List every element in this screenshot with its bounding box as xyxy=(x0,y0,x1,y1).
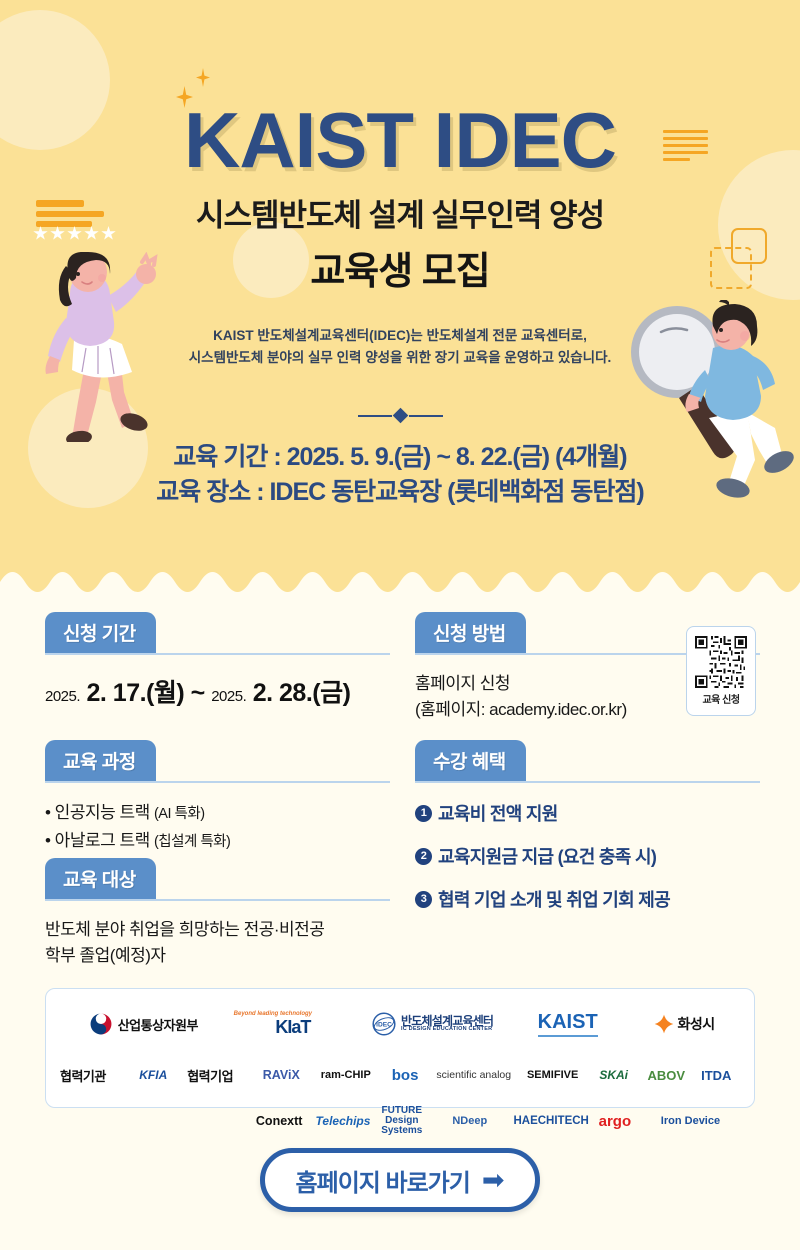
logo-abov: ABOV xyxy=(640,1068,693,1083)
tab-benefits-wrap: 수강 혜택 xyxy=(415,740,760,781)
courses-list: • 인공지능 트랙 (AI 특화) • 아날로그 트랙 (칩설계 특화) xyxy=(45,799,390,854)
logo-future-design-systems: FUTURE Design Systems xyxy=(377,1106,426,1136)
hero-period: 교육 기간 : 2025. 5. 9.(금) ~ 8. 22.(금) (4개월) xyxy=(0,437,800,473)
logo-argo: argo xyxy=(589,1113,641,1130)
benefit-0-number: 1 xyxy=(415,805,432,822)
logo-idec: IDEC 반도체설계교육센터 IC DESIGN EDUCATION CENTE… xyxy=(358,1012,507,1036)
tab-apply-period-wrap: 신청 기간 xyxy=(45,612,390,653)
logo-haechitech: HAECHITECH xyxy=(513,1115,588,1127)
apply-period-tilde: ~ xyxy=(191,679,205,707)
hero-headline: 교육생 모집 xyxy=(0,240,800,295)
logo-ramxchip: ram-CHIP xyxy=(311,1069,381,1081)
qr-code-icon xyxy=(695,636,747,688)
benefit-0-text: 교육비 전액 지원 xyxy=(438,800,558,826)
hero-place: 교육 장소 : IDEC 동탄교육장 (롯데백화점 동탄점) xyxy=(0,472,800,508)
benefit-2-text: 협력 기업 소개 및 취업 기회 제공 xyxy=(438,886,670,912)
svg-text:IDEC: IDEC xyxy=(376,1021,392,1028)
rule-target xyxy=(45,899,390,901)
apply-period-year-to: 2025. xyxy=(211,688,246,705)
cta-label: 홈페이지 바로가기 xyxy=(296,1163,470,1198)
target-text: 반도체 분야 취업을 희망하는 전공·비전공 학부 졸업(예정)자 xyxy=(45,917,390,968)
label-partner-companies: 협력기업 xyxy=(187,1066,251,1085)
benefits-list: 1 교육비 전액 지원 2 교육지원금 지급 (요건 충족 시) 3 협력 기업… xyxy=(415,800,760,912)
logo-hwaseong: 화성시 xyxy=(628,1014,740,1034)
logo-ndeep: NDeep xyxy=(426,1115,513,1127)
logo-kiat-label: KIaT xyxy=(275,1017,310,1038)
rule-courses xyxy=(45,781,390,783)
benefit-1-number: 2 xyxy=(415,848,432,865)
page-title: KAIST IDEC xyxy=(0,95,800,186)
section-benefits: 수강 혜택 1 교육비 전액 지원 2 교육지원금 지급 (요건 충족 시) 3… xyxy=(415,740,760,929)
benefit-1-text: 교육지원금 지급 (요건 충족 시) xyxy=(438,843,656,869)
apply-period-date-to: 2. 28.(금) xyxy=(253,679,351,707)
logo-telechips: Telechips xyxy=(309,1114,378,1128)
course-0-main: • 인공지능 트랙 xyxy=(45,803,154,822)
logo-hwaseong-label: 화성시 xyxy=(678,1014,715,1034)
hwaseong-mark-icon xyxy=(654,1014,674,1034)
hero-description-line1: KAIST 반도체설계교육센터(IDEC)는 반도체설계 전문 교육센터로, xyxy=(0,325,800,347)
logo-row-primary: 산업통상자원부 Beyond leading technology KIaT I… xyxy=(60,999,740,1049)
apply-period-dates: 2025. 2. 17.(월) ~ 2025. 2. 28.(금) xyxy=(45,673,390,709)
logo-ravix: RAViX xyxy=(252,1068,311,1082)
homepage-link-button[interactable]: 홈페이지 바로가기 ➡ xyxy=(260,1148,540,1212)
target-line2: 학부 졸업(예정)자 xyxy=(45,943,390,969)
logo-row-partners-b: Conextt Telechips FUTURE Design Systems … xyxy=(60,1101,740,1141)
partner-logo-panel: 산업통상자원부 Beyond leading technology KIaT I… xyxy=(45,988,755,1108)
diamond-divider xyxy=(0,410,800,421)
target-line1: 반도체 분야 취업을 희망하는 전공·비전공 xyxy=(45,917,390,943)
hero-subtitle: 시스템반도체 설계 실무인력 양성 xyxy=(0,190,800,235)
tab-courses: 교육 과정 xyxy=(45,740,156,781)
logo-iron-device: Iron Device xyxy=(641,1115,740,1127)
arrow-right-icon: ➡ xyxy=(482,1167,505,1194)
tab-target-wrap: 교육 대상 xyxy=(45,858,390,899)
sparkle-icon xyxy=(196,68,210,87)
logo-skai: SKAi xyxy=(587,1068,640,1082)
logo-kaist-label: KAIST xyxy=(538,1011,598,1037)
idec-mark-icon: IDEC xyxy=(372,1012,396,1036)
apply-period-year-from: 2025. xyxy=(45,688,80,705)
tab-benefits: 수강 혜택 xyxy=(415,740,526,781)
logo-row-partners-a: 협력기관 KFIA 협력기업 RAViX ram-CHIP bos scient… xyxy=(60,1049,740,1101)
section-target: 교육 대상 반도체 분야 취업을 희망하는 전공·비전공 학부 졸업(예정)자 xyxy=(45,858,390,968)
logo-scientific-analog: scientific analog xyxy=(430,1069,518,1081)
logo-motie-label: 산업통상자원부 xyxy=(118,1015,198,1034)
rule-apply-period xyxy=(45,653,390,655)
section-apply-period: 신청 기간 2025. 2. 17.(월) ~ 2025. 2. 28.(금) xyxy=(45,612,390,709)
logo-bos: bos xyxy=(381,1067,430,1084)
section-courses: 교육 과정 • 인공지능 트랙 (AI 특화) • 아날로그 트랙 (칩설계 특… xyxy=(45,740,390,854)
tab-apply-period: 신청 기간 xyxy=(45,612,156,653)
list-item: • 아날로그 트랙 (칩설계 특화) xyxy=(45,827,390,855)
tab-courses-wrap: 교육 과정 xyxy=(45,740,390,781)
label-partner-orgs: 협력기관 xyxy=(60,1066,119,1085)
list-item: 1 교육비 전액 지원 xyxy=(415,800,760,826)
qr-caption: 교육 신청 xyxy=(702,691,739,706)
course-0-sub: (AI 특화) xyxy=(154,806,205,822)
hero-description: KAIST 반도체설계교육센터(IDEC)는 반도체설계 전문 교육센터로, 시… xyxy=(0,325,800,370)
benefit-2-number: 3 xyxy=(415,891,432,908)
list-item: 3 협력 기업 소개 및 취업 기회 제공 xyxy=(415,886,760,912)
logo-itda: ITDA xyxy=(693,1068,740,1083)
apply-period-date-from: 2. 17.(월) xyxy=(87,679,185,707)
logo-kaist: KAIST xyxy=(507,1011,628,1037)
tab-apply-method: 신청 방법 xyxy=(415,612,526,653)
logo-motie: 산업통상자원부 xyxy=(60,1013,228,1035)
course-1-sub: (칩설계 특화) xyxy=(154,834,230,850)
logo-idec-sub: IC DESIGN EDUCATION CENTER xyxy=(401,1027,493,1033)
hero-banner: KAIST IDEC 시스템반도체 설계 실무인력 양성 교육생 모집 KAIS… xyxy=(0,0,800,600)
logo-conextt: Conextt xyxy=(250,1114,309,1128)
course-1-main: • 아날로그 트랙 xyxy=(45,831,154,850)
taegeuk-icon xyxy=(90,1013,112,1035)
logo-semifive: SEMIFIVE xyxy=(518,1069,588,1081)
hero-description-line2: 시스템반도체 분야의 실무 인력 양성을 위한 장기 교육을 운영하고 있습니다… xyxy=(0,347,800,369)
wave-divider xyxy=(0,560,800,600)
logo-kfia: KFIA xyxy=(119,1068,187,1082)
logo-kiat: Beyond leading technology KIaT xyxy=(228,1011,358,1038)
qr-code-apply[interactable]: 교육 신청 xyxy=(686,626,756,716)
list-item: • 인공지능 트랙 (AI 특화) xyxy=(45,799,390,827)
tab-target: 교육 대상 xyxy=(45,858,156,899)
list-item: 2 교육지원금 지급 (요건 충족 시) xyxy=(415,843,760,869)
rule-benefits xyxy=(415,781,760,783)
